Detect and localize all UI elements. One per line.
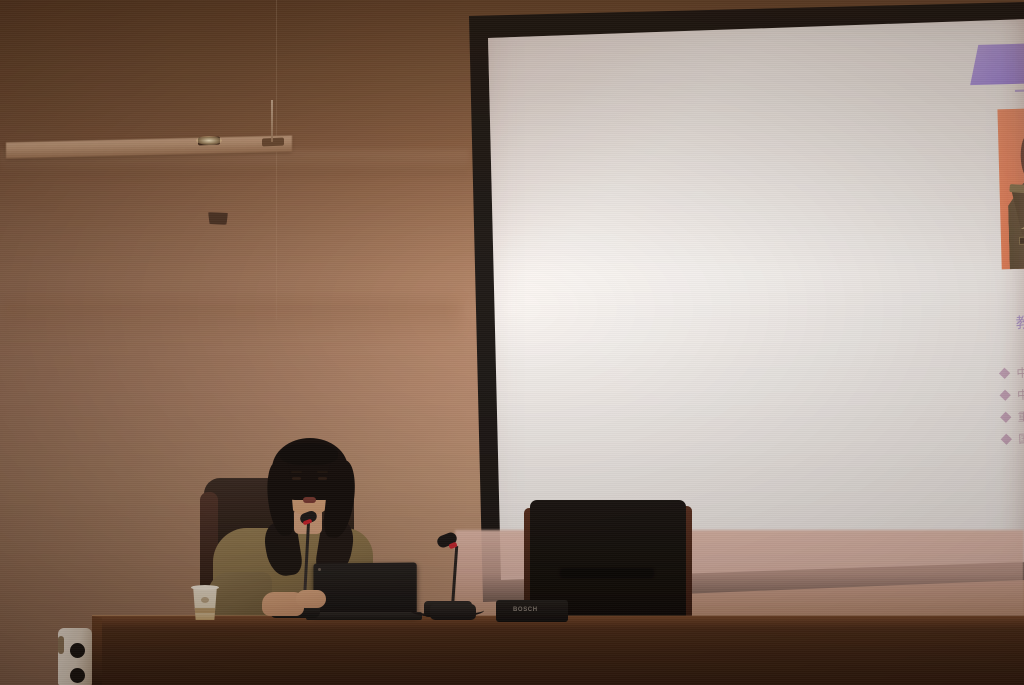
light-suspension-rod (271, 100, 273, 142)
wall-seam-line (276, 0, 277, 320)
wall-lower-shadow (0, 300, 460, 340)
laptop-screen (313, 562, 416, 615)
portrait-name: 曾 文 (1011, 278, 1024, 304)
speaker-hand-right (296, 590, 326, 608)
coffee-cup-logo (201, 597, 209, 603)
laptop-base (306, 612, 422, 620)
floor-speaker-hole-top (70, 643, 85, 658)
organization-label: 中国医促会创伤医学会 (1016, 362, 1024, 381)
desk-front-panel (98, 628, 1024, 685)
title-accent-shape (970, 43, 1024, 85)
speaker-eye-right (318, 477, 327, 480)
speaker-brow-left (291, 471, 302, 473)
diamond-bullet-icon (1000, 390, 1011, 401)
portrait-ribbon-bar (1019, 236, 1024, 245)
laptop-webcam-icon (318, 568, 321, 571)
console-brand-label: BOSCH (513, 607, 538, 613)
organization-label: 重庆市细胞生物学会 (1018, 406, 1024, 425)
coffee-cup-rim (191, 585, 219, 590)
wall-mounted-fixture (208, 212, 228, 225)
portrait-hair-left (1020, 134, 1024, 178)
floor-speaker-hole-bottom (70, 668, 85, 683)
light-endcap (262, 138, 284, 147)
portrait-bangs (997, 107, 1024, 110)
speaker-brow-right (317, 471, 328, 473)
portrait-subtitle: 教授，博导 (1002, 309, 1024, 333)
diamond-bullet-icon (1000, 412, 1011, 423)
coffee-cup-band (195, 608, 215, 613)
light-glow (196, 136, 222, 145)
desk-left-end (92, 616, 102, 685)
speaker-eye-left (292, 477, 301, 480)
diamond-bullet-icon (1001, 434, 1012, 445)
coffee-cup (192, 586, 218, 620)
organization-label: 中国生物医学工程学会组织工程与再生医学分会 (1017, 380, 1024, 403)
organization-item: 中国医促会创伤医学会秘书长 (1000, 347, 1024, 384)
speaker-mouth (303, 497, 316, 503)
speaker-bangs (280, 443, 338, 465)
diamond-bullet-icon (999, 368, 1010, 379)
portrait-photo (997, 107, 1024, 270)
conference-room-photo: 个人简介 (0, 0, 1024, 685)
floor-speaker-side (58, 636, 64, 654)
chair-right-seam (560, 568, 654, 578)
organizations-list: 中国医促会创伤医学会秘书长中国生物医学工程学会组织工程与再生医学分会副主委重庆市… (1000, 347, 1024, 450)
microphone-right-base (430, 604, 476, 620)
